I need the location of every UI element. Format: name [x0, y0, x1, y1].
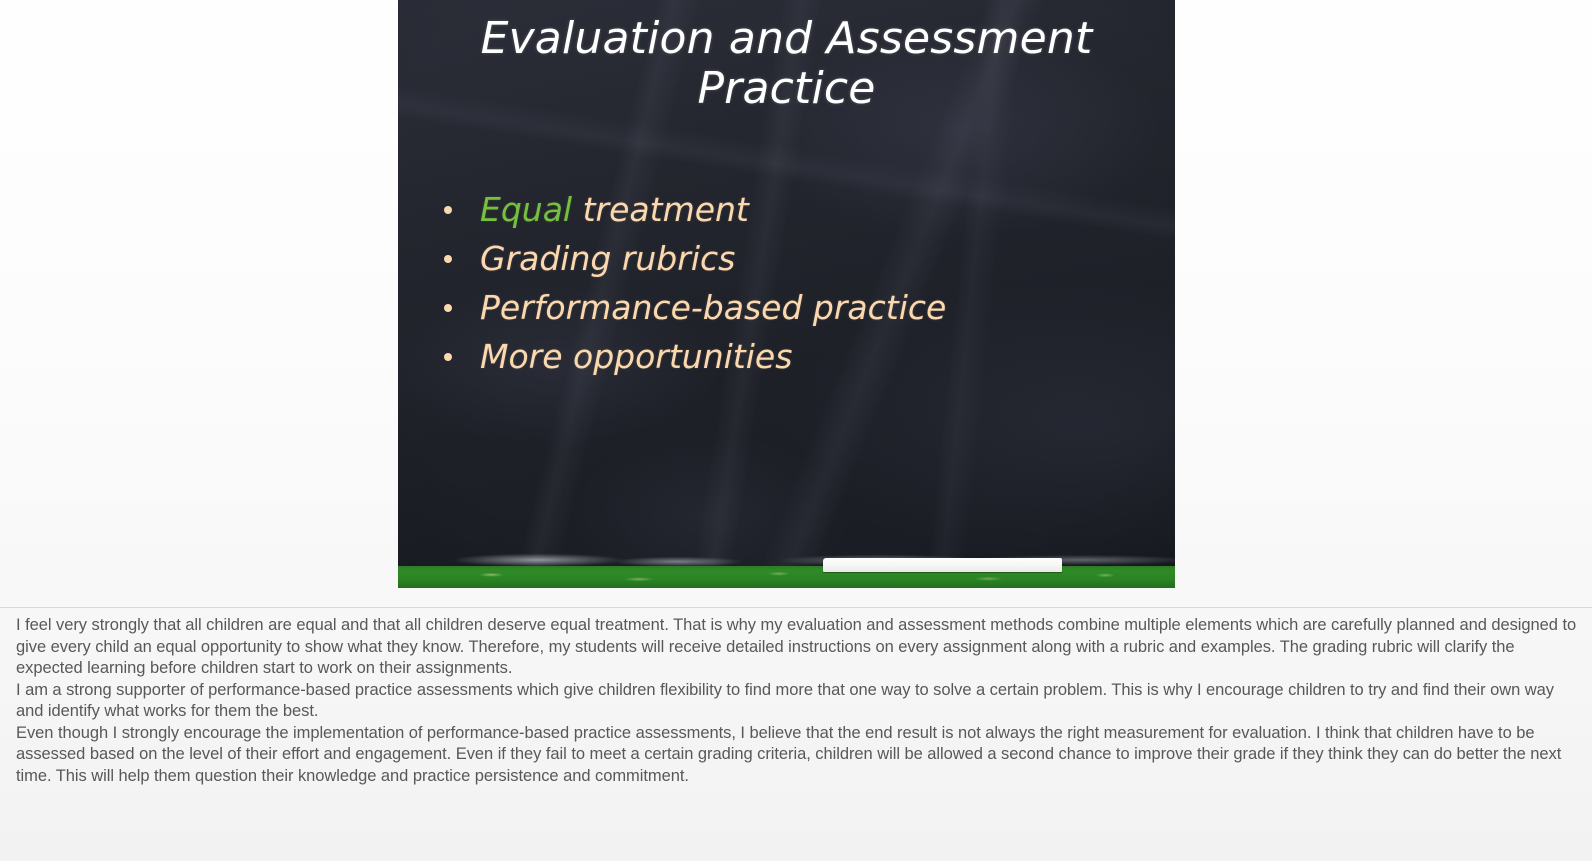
bullet-highlight-text: Equal: [480, 190, 572, 229]
chalk-eraser: [823, 558, 1062, 572]
bullet-text: treatment: [572, 190, 749, 229]
body-paragraph: Even though I strongly encourage the imp…: [16, 723, 1578, 788]
page-root: Evaluation and Assessment Practice Equal…: [0, 0, 1592, 861]
bullet-text: More opportunities: [480, 337, 792, 376]
bullet-dot-icon: [444, 304, 452, 312]
chalkboard-slide-image: Evaluation and Assessment Practice Equal…: [398, 0, 1175, 588]
slide-bullet-item: Grading rubrics: [436, 234, 1136, 283]
bullet-text: Grading rubrics: [480, 239, 735, 278]
slide-title: Evaluation and Assessment Practice: [398, 14, 1175, 114]
slide-title-line-2: Practice: [446, 64, 1127, 114]
bullet-dot-icon: [444, 353, 452, 361]
slide-bullet-item: More opportunities: [436, 332, 1136, 381]
slide-bullet-list: Equal treatment Grading rubrics Performa…: [436, 185, 1136, 381]
body-paragraph: I am a strong supporter of performance-b…: [16, 680, 1578, 723]
bullet-dot-icon: [444, 206, 452, 214]
slide-hero-region: Evaluation and Assessment Practice Equal…: [0, 0, 1592, 602]
slide-bullet-item: Equal treatment: [436, 185, 1136, 234]
bullet-text: Performance-based practice: [480, 288, 946, 327]
body-text-block: I feel very strongly that all children a…: [0, 608, 1592, 787]
body-paragraph: I feel very strongly that all children a…: [16, 615, 1578, 680]
slide-title-line-1: Evaluation and Assessment: [446, 14, 1127, 64]
bullet-dot-icon: [444, 255, 452, 263]
slide-bullet-item: Performance-based practice: [436, 283, 1136, 332]
